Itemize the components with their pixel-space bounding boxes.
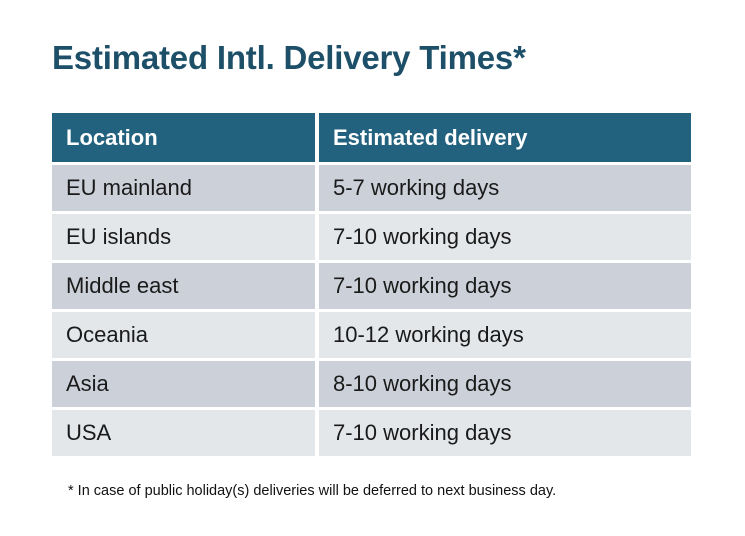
cell-location: Oceania	[52, 309, 319, 358]
column-header-estimated-delivery: Estimated delivery	[319, 113, 691, 162]
table-body: EU mainland 5-7 working days EU islands …	[52, 162, 691, 456]
cell-location: EU mainland	[52, 162, 319, 211]
table-row: EU islands 7-10 working days	[52, 211, 691, 260]
cell-location: Asia	[52, 358, 319, 407]
cell-location: Middle east	[52, 260, 319, 309]
cell-estimated-delivery: 8-10 working days	[319, 358, 691, 407]
cell-estimated-delivery: 7-10 working days	[319, 211, 691, 260]
delivery-times-page: Estimated Intl. Delivery Times* Location…	[0, 0, 745, 536]
cell-estimated-delivery: 7-10 working days	[319, 260, 691, 309]
cell-estimated-delivery: 7-10 working days	[319, 407, 691, 456]
footnote: * In case of public holiday(s) deliverie…	[68, 481, 556, 501]
table-row: Middle east 7-10 working days	[52, 260, 691, 309]
cell-estimated-delivery: 10-12 working days	[319, 309, 691, 358]
table-header-row: Location Estimated delivery	[52, 113, 691, 162]
table-header: Location Estimated delivery	[52, 113, 691, 162]
cell-location: EU islands	[52, 211, 319, 260]
table-row: Oceania 10-12 working days	[52, 309, 691, 358]
cell-location: USA	[52, 407, 319, 456]
page-title: Estimated Intl. Delivery Times*	[52, 38, 526, 78]
table-row: USA 7-10 working days	[52, 407, 691, 456]
delivery-times-table: Location Estimated delivery EU mainland …	[52, 113, 691, 456]
column-header-location: Location	[52, 113, 319, 162]
cell-estimated-delivery: 5-7 working days	[319, 162, 691, 211]
table-row: EU mainland 5-7 working days	[52, 162, 691, 211]
table-row: Asia 8-10 working days	[52, 358, 691, 407]
